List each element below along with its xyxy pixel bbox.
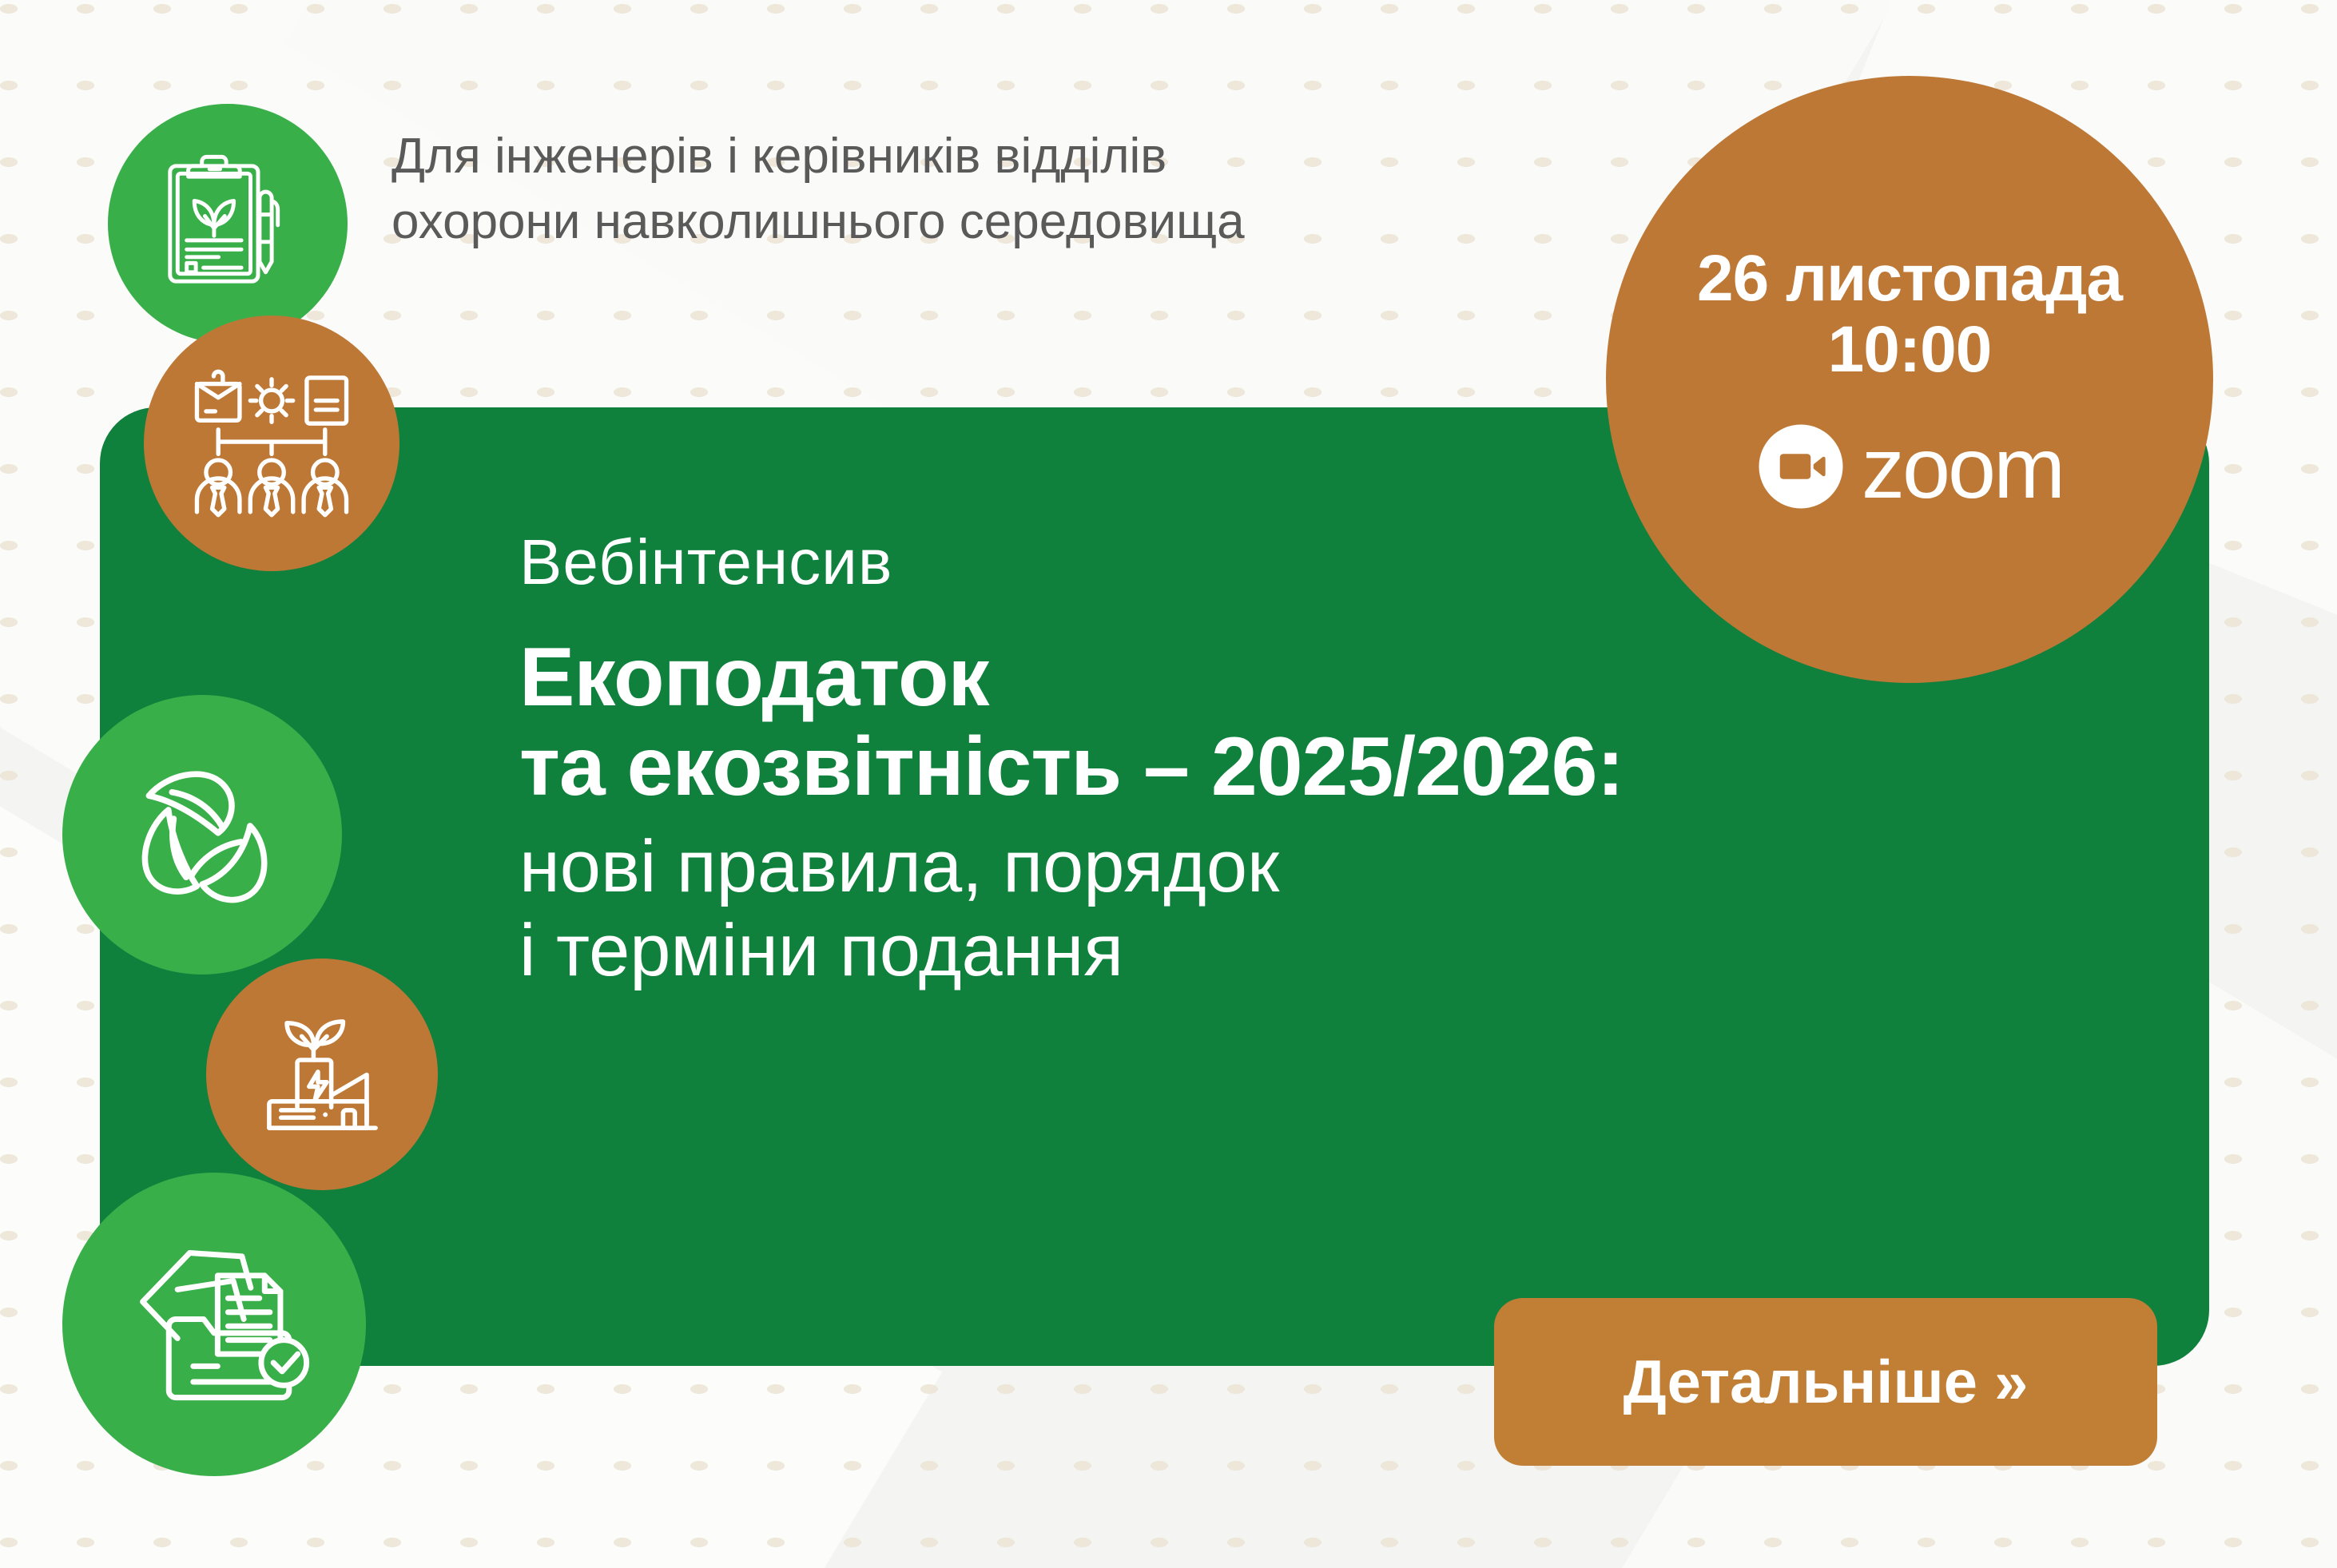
title-light-line-1: нові правила, порядок — [519, 825, 2165, 909]
title-strong-line-2: та екозвітність – 2025/2026: — [519, 722, 2165, 812]
org-chart-team-icon — [144, 316, 399, 571]
title-light-line-2: і терміни подання — [519, 909, 2165, 993]
headline-block: Вебінтенсив Екоподаток та екозвітність –… — [519, 527, 2165, 992]
details-cta-button[interactable]: Детальніше » — [1494, 1298, 2157, 1466]
zoom-wordmark: zoom — [1862, 434, 2063, 502]
zoom-logo: zoom — [1756, 422, 2063, 515]
audience-line-1: Для інженерів і керівників відділів — [391, 124, 1574, 189]
event-type-kicker: Вебінтенсив — [519, 527, 2165, 597]
audience-caption: Для інженерів і керівників відділів охор… — [391, 124, 1574, 255]
zoom-camera-icon — [1756, 422, 1846, 515]
event-time: 10:00 — [1828, 315, 1992, 386]
promo-banner: Для інженерів і керівників відділів охор… — [0, 0, 2337, 1568]
recycling-leaves-icon — [62, 695, 342, 975]
audience-line-2: охорони навколишнього середовища — [391, 189, 1574, 255]
documents-folder-check-icon — [62, 1173, 366, 1476]
title-strong-line-1: Екоподаток — [519, 633, 2165, 722]
eco-factory-icon — [206, 959, 438, 1190]
event-date: 26 листопада — [1697, 244, 2122, 315]
clipboard-plant-pen-icon — [108, 104, 348, 343]
